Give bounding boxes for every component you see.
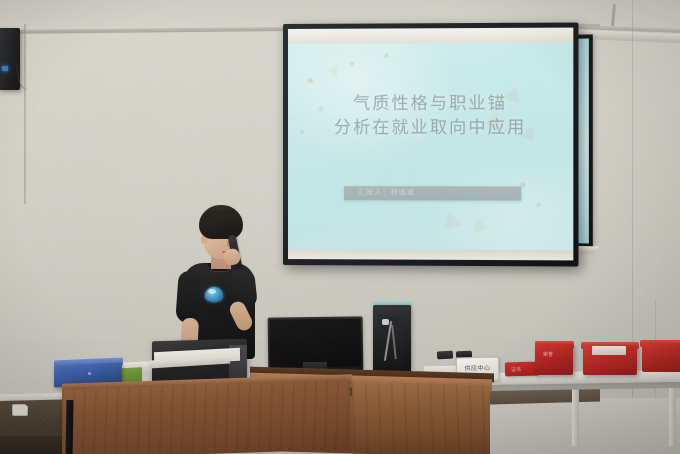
shirt-logo-icon <box>205 287 223 302</box>
screen-top-band <box>288 28 573 44</box>
shirt-logo-highlight <box>208 289 216 294</box>
screen-bottom-band <box>288 249 573 260</box>
lectern-knob <box>382 319 389 325</box>
wooden-podium <box>62 380 350 454</box>
decor-dot <box>308 78 313 83</box>
slide-title-line-1: 气质性格与职业锚 <box>288 91 573 116</box>
slide-title: 气质性格与职业锚 分析在就业取向中应用 <box>288 91 573 140</box>
black-clipboard <box>437 351 453 360</box>
red-box-text: 荣誉 <box>543 351 553 358</box>
white-table-leg <box>572 386 579 446</box>
monitor-screen <box>270 318 362 367</box>
decor-triangle-icon <box>475 218 489 235</box>
red-crate-small <box>642 343 680 372</box>
slide-subtitle-bar: 汇报人：林诚诚 <box>344 186 521 200</box>
speaker-led-indicator <box>2 66 8 71</box>
white-table-leg <box>669 384 676 446</box>
decor-dot <box>384 54 388 58</box>
podium-wood-grain <box>62 380 350 454</box>
slide-title-line-2: 分析在就业取向中应用 <box>288 116 573 140</box>
lectern-control-unit <box>373 305 411 373</box>
red-certificate-box: 荣誉 <box>535 344 573 375</box>
presentation-slide: 气质性格与职业锚 分析在就业取向中应用 汇报人：林诚诚 <box>288 43 573 251</box>
podium-leg <box>66 400 74 454</box>
presenter-hair-fringe <box>199 211 243 227</box>
classroom-presentation-photo: 气质性格与职业锚 分析在就业取向中应用 汇报人：林诚诚 供应中心 证书 <box>0 0 680 454</box>
projection-screen: 气质性格与职业锚 分析在就业取向中应用 汇报人：林诚诚 <box>283 22 578 266</box>
slide-glare-2 <box>430 157 574 250</box>
screen-surface: 气质性格与职业锚 分析在就业取向中应用 汇报人：林诚诚 <box>288 28 573 261</box>
wall-panel-edge <box>24 24 26 204</box>
presenter-left-sleeve <box>175 270 201 323</box>
decor-dot <box>537 203 541 207</box>
supply-center-sign-text: 供应中心 <box>457 363 498 373</box>
slide-subtitle-text: 汇报人：林诚诚 <box>344 186 521 197</box>
crate-white-contents <box>592 346 626 355</box>
red-flat-folder-text: 证书 <box>511 366 521 373</box>
wall-speaker-icon <box>0 28 20 90</box>
binder-latch <box>88 372 91 375</box>
decor-dot <box>350 62 354 66</box>
